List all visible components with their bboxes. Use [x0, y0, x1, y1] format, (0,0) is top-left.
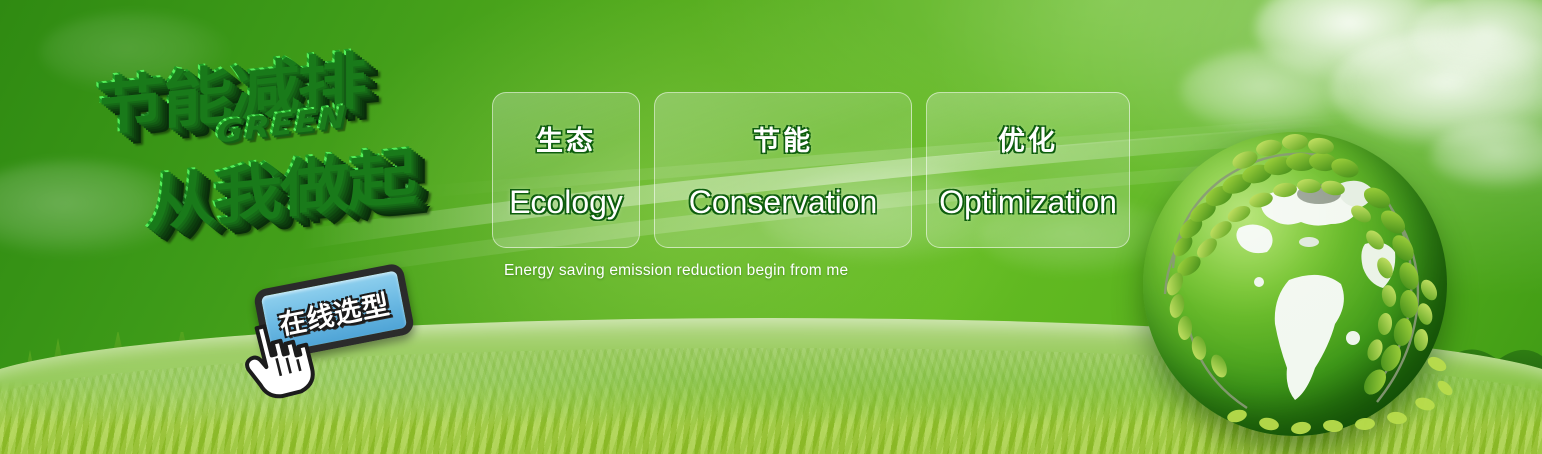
feature-card-list: 生态 Ecology 节能 Conservation 优化 Optimizati… — [492, 92, 1130, 248]
ember-glow-decoration — [192, 156, 312, 211]
cloud-icon — [1330, 28, 1542, 148]
cloud-icon — [1180, 48, 1360, 134]
cloud-icon — [40, 12, 230, 92]
cloud-icon — [1430, 120, 1542, 190]
feature-card-conservation[interactable]: 节能 Conservation — [654, 92, 912, 248]
feature-card-title-en: Conservation — [689, 184, 878, 221]
cloud-icon — [1255, 0, 1465, 82]
grass-field — [0, 318, 1542, 454]
hero-line-top: 节能减排 — [94, 28, 363, 146]
cloud-icon — [0, 160, 190, 256]
feature-card-title-cn: 优化 — [998, 119, 1058, 158]
feature-card-optimization[interactable]: 优化 Optimization — [926, 92, 1130, 248]
feature-card-title-cn: 生态 — [536, 119, 596, 158]
leaf-litter-ground — [0, 380, 1542, 454]
cloud-icon — [1412, 0, 1542, 82]
green-banner: 节能减排 GREEN 从我做起 生态 Ecology 节能 Conservati… — [0, 0, 1542, 454]
banner-tagline: Energy saving emission reduction begin f… — [504, 262, 848, 280]
feature-card-ecology[interactable]: 生态 Ecology — [492, 92, 640, 248]
hero-3d-headline: 节能减排 GREEN 从我做起 — [96, 34, 496, 264]
hero-line-bottom: 从我做起 — [144, 124, 413, 242]
cloud-icon — [1180, 150, 1390, 234]
feature-card-title-en: Optimization — [939, 184, 1117, 221]
feature-card-title-cn: 节能 — [753, 119, 813, 158]
cta-button-label: 在线选型 — [275, 282, 392, 342]
feature-card-title-en: Ecology — [509, 184, 623, 221]
hero-line-green: GREEN — [214, 98, 345, 149]
